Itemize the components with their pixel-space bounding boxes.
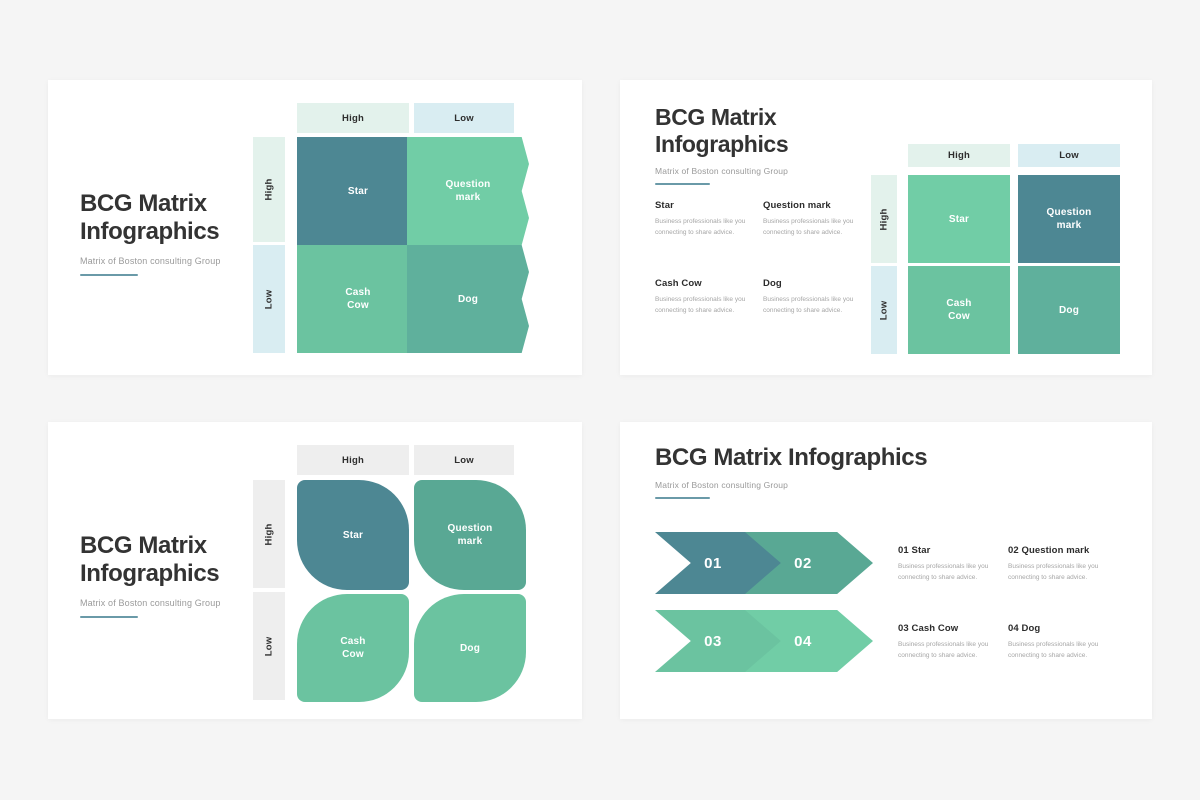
chevron-03-label: 03 <box>704 633 722 650</box>
axis-row-low-label: Low <box>878 300 889 320</box>
axis-col-high: High <box>297 103 409 133</box>
quadrant-dog-label: Dog <box>1059 304 1079 317</box>
page-title: BCG Matrix Infographics <box>655 104 870 158</box>
quadrant-star[interactable]: Star <box>297 137 419 245</box>
axis-col-low-label: Low <box>1059 150 1079 161</box>
quadrant-cash-cow[interactable]: Cash Cow <box>297 594 409 702</box>
axis-col-high-label: High <box>342 113 364 124</box>
axis-col-low: Low <box>414 445 514 475</box>
axis-col-low-label: Low <box>454 455 474 466</box>
page-subtitle: Matrix of Boston consulting Group <box>655 480 975 490</box>
cc-line-2: Cow <box>342 649 364 660</box>
qm-line-1: Question <box>1047 207 1092 218</box>
desc-item-cash-cow: Cash Cow Business professionals like you… <box>655 278 751 316</box>
quadrant-star-label: Star <box>949 213 969 226</box>
page-title: BCG Matrix Infographics <box>655 444 975 472</box>
quadrant-cash-cow-label: Cash Cow <box>345 286 370 312</box>
cc-line-2: Cow <box>347 300 369 311</box>
quadrant-question-mark-label: Question mark <box>448 522 493 548</box>
panel-arrow-matrix: BCG Matrix Infographics Matrix of Boston… <box>48 80 582 375</box>
quadrant-cash-cow[interactable]: Cash Cow <box>297 245 419 353</box>
desc-title-dog: Dog <box>763 278 859 289</box>
axis-row-high-label: High <box>264 523 275 545</box>
quadrant-dog[interactable]: Dog <box>414 594 526 702</box>
quadrant-question-mark[interactable]: Question mark <box>414 480 526 590</box>
panel-text-matrix: BCG Matrix Infographics Matrix of Boston… <box>620 80 1152 375</box>
chevron-04-label: 04 <box>794 633 812 650</box>
qm-line-2: mark <box>456 192 481 203</box>
desc-body-star: Business professionals like you connecti… <box>898 562 1006 583</box>
axis-col-high-label: High <box>342 455 364 466</box>
title-underline <box>80 616 138 618</box>
axis-row-high: High <box>253 137 285 242</box>
axis-col-low-label: Low <box>454 113 474 124</box>
title-line-1: BCG Matrix <box>655 104 870 131</box>
desc-item-question-mark: Question mark Business professionals lik… <box>763 200 859 238</box>
quadrant-cash-cow-label: Cash Cow <box>340 635 365 661</box>
desc-item-dog: 04 Dog Business professionals like you c… <box>1008 623 1116 661</box>
axis-row-high: High <box>871 175 897 263</box>
cc-line-1: Cash <box>340 636 365 647</box>
desc-title-question-mark: Question mark <box>763 200 859 211</box>
axis-row-low: Low <box>253 245 285 353</box>
title-line-2: Infographics <box>655 131 870 158</box>
title-underline <box>655 497 710 499</box>
panel4-title-block: BCG Matrix Infographics Matrix of Boston… <box>655 444 975 499</box>
axis-col-high: High <box>908 144 1010 167</box>
screenshot-stage: BCG Matrix Infographics Matrix of Boston… <box>0 0 1200 800</box>
axis-row-high-label: High <box>264 179 275 201</box>
panel-chevron: BCG Matrix Infographics Matrix of Boston… <box>620 422 1152 719</box>
axis-row-high: High <box>253 480 285 588</box>
quadrant-dog[interactable]: Dog <box>407 245 529 353</box>
panel2-title-block: BCG Matrix Infographics Matrix of Boston… <box>655 104 870 185</box>
quadrant-question-mark[interactable]: Question mark <box>1018 175 1120 263</box>
quadrant-star[interactable]: Star <box>297 480 409 590</box>
axis-row-low-label: Low <box>263 289 274 309</box>
page-subtitle: Matrix of Boston consulting Group <box>655 166 870 176</box>
quadrant-cash-cow-label: Cash Cow <box>946 297 971 323</box>
quadrant-star-label: Star <box>348 185 368 198</box>
quadrant-star-label: Star <box>343 529 363 542</box>
desc-item-cash-cow: 03 Cash Cow Business professionals like … <box>898 623 1006 661</box>
axis-row-low: Low <box>253 592 285 700</box>
desc-item-question-mark: 02 Question mark Business professionals … <box>1008 545 1116 583</box>
desc-title-dog: 04 Dog <box>1008 623 1116 634</box>
axis-row-low-label: Low <box>263 636 274 656</box>
axis-row-low: Low <box>871 266 897 354</box>
chevron-02-label: 02 <box>794 555 812 572</box>
desc-item-star: 01 Star Business professionals like you … <box>898 545 1006 583</box>
axis-row-high-label: High <box>879 208 890 230</box>
desc-body-question-mark: Business professionals like you connecti… <box>1008 562 1116 583</box>
quadrant-question-mark-label: Question mark <box>446 178 491 204</box>
desc-body-question-mark: Business professionals like you connecti… <box>763 217 859 238</box>
quadrant-cash-cow[interactable]: Cash Cow <box>908 266 1010 354</box>
desc-title-question-mark: 02 Question mark <box>1008 545 1116 556</box>
desc-title-cash-cow: Cash Cow <box>655 278 751 289</box>
desc-body-cash-cow: Business professionals like you connecti… <box>655 295 751 316</box>
title-underline <box>655 183 710 185</box>
chevron-01-label: 01 <box>704 555 722 572</box>
quadrant-question-mark[interactable]: Question mark <box>407 137 529 245</box>
desc-title-star: Star <box>655 200 751 211</box>
qm-line-1: Question <box>448 523 493 534</box>
desc-title-star: 01 Star <box>898 545 1006 556</box>
qm-line-2: mark <box>1057 220 1082 231</box>
axis-col-high-label: High <box>948 150 970 161</box>
title-underline <box>80 274 138 276</box>
axis-col-low: Low <box>414 103 514 133</box>
desc-body-dog: Business professionals like you connecti… <box>1008 640 1116 661</box>
axis-col-low: Low <box>1018 144 1120 167</box>
quadrant-dog-label: Dog <box>458 293 478 306</box>
quadrant-star[interactable]: Star <box>908 175 1010 263</box>
qm-line-1: Question <box>446 179 491 190</box>
desc-body-star: Business professionals like you connecti… <box>655 217 751 238</box>
desc-item-dog: Dog Business professionals like you conn… <box>763 278 859 316</box>
cc-line-1: Cash <box>946 298 971 309</box>
desc-body-dog: Business professionals like you connecti… <box>763 295 859 316</box>
desc-body-cash-cow: Business professionals like you connecti… <box>898 640 1006 661</box>
cc-line-1: Cash <box>345 287 370 298</box>
quadrant-dog[interactable]: Dog <box>1018 266 1120 354</box>
qm-line-2: mark <box>458 536 483 547</box>
desc-item-star: Star Business professionals like you con… <box>655 200 751 238</box>
desc-title-cash-cow: 03 Cash Cow <box>898 623 1006 634</box>
panel-rounded-matrix: BCG Matrix Infographics Matrix of Boston… <box>48 422 582 719</box>
quadrant-dog-label: Dog <box>460 642 480 655</box>
quadrant-question-mark-label: Question mark <box>1047 206 1092 232</box>
cc-line-2: Cow <box>948 311 970 322</box>
axis-col-high: High <box>297 445 409 475</box>
